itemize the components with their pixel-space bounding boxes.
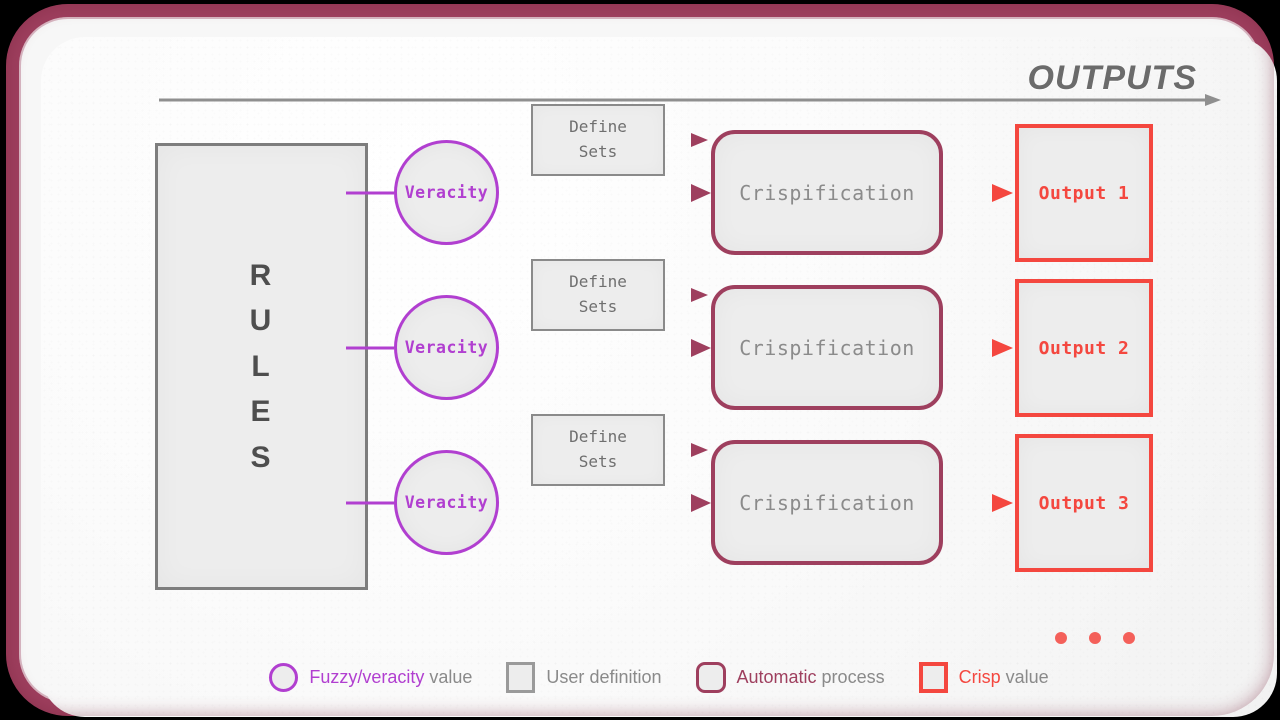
define-sets-line: Define: [569, 272, 627, 291]
square-outline-icon: [506, 662, 535, 693]
legend-strong: Crisp: [959, 667, 1001, 687]
veracity-node-3[interactable]: Veracity: [394, 450, 499, 555]
output-box-3[interactable]: Output 3: [1015, 434, 1153, 572]
outer-frame: OUTPUTS R U L E S: [6, 4, 1274, 716]
legend: Fuzzy/veracity value User definition Aut…: [41, 662, 1277, 693]
legend-strong: Automatic: [737, 667, 817, 687]
define-sets-line: Sets: [579, 297, 618, 316]
legend-rest: value: [1001, 667, 1049, 687]
legend-label-fuzzy: Fuzzy/veracity value: [309, 667, 472, 688]
define-sets-label: Define Sets: [569, 270, 627, 320]
more-outputs-ellipsis: [1055, 632, 1135, 644]
diagram-canvas: OUTPUTS R U L E S: [41, 37, 1277, 717]
legend-item-automatic-process: Automatic process: [696, 662, 885, 693]
legend-label-crisp-value: Crisp value: [959, 667, 1049, 688]
define-sets-line: Define: [569, 117, 627, 136]
define-sets-box-2[interactable]: Define Sets: [531, 259, 665, 331]
ellipsis-dot-icon: [1055, 632, 1067, 644]
crispification-box-2[interactable]: Crispification: [711, 285, 943, 410]
red-square-outline-icon: [919, 662, 948, 693]
define-sets-line: Sets: [579, 452, 618, 471]
veracity-node-2[interactable]: Veracity: [394, 295, 499, 400]
circle-outline-icon: [269, 663, 298, 692]
crispification-box-3[interactable]: Crispification: [711, 440, 943, 565]
crispification-box-1[interactable]: Crispification: [711, 130, 943, 255]
legend-label-user-definition: User definition: [546, 667, 661, 688]
diagram-stage: OUTPUTS R U L E S: [0, 0, 1280, 720]
legend-rest: definition: [584, 667, 661, 687]
legend-label-automatic-process: Automatic process: [737, 667, 885, 688]
legend-strong: User: [546, 667, 584, 687]
define-sets-label: Define Sets: [569, 115, 627, 165]
legend-strong: Fuzzy/veracity: [309, 667, 424, 687]
legend-item-user-definition: User definition: [506, 662, 661, 693]
legend-rest: process: [817, 667, 885, 687]
veracity-node-1[interactable]: Veracity: [394, 140, 499, 245]
define-sets-line: Sets: [579, 142, 618, 161]
output-box-1[interactable]: Output 1: [1015, 124, 1153, 262]
define-sets-box-1[interactable]: Define Sets: [531, 104, 665, 176]
output-box-2[interactable]: Output 2: [1015, 279, 1153, 417]
legend-rest: value: [424, 667, 472, 687]
ellipsis-dot-icon: [1123, 632, 1135, 644]
define-sets-line: Define: [569, 427, 627, 446]
define-sets-box-3[interactable]: Define Sets: [531, 414, 665, 486]
ellipsis-dot-icon: [1089, 632, 1101, 644]
legend-item-fuzzy: Fuzzy/veracity value: [269, 663, 472, 692]
rounded-square-outline-icon: [696, 662, 726, 693]
legend-item-crisp-value: Crisp value: [919, 662, 1049, 693]
define-sets-label: Define Sets: [569, 425, 627, 475]
